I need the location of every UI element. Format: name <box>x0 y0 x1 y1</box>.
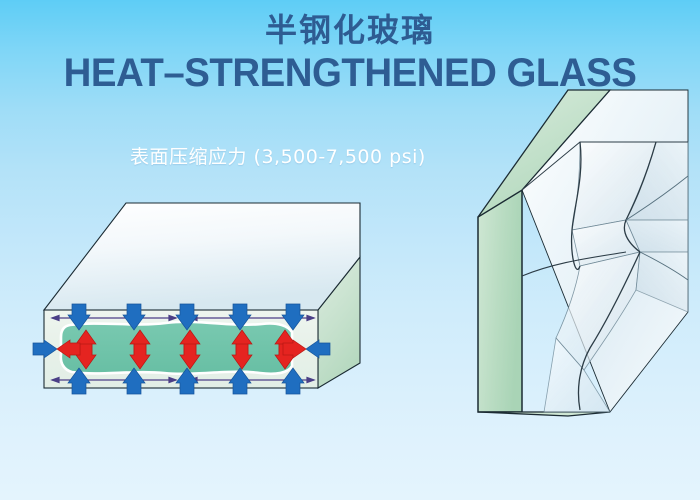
glass-bottom-bevel <box>478 412 610 416</box>
slab-top-face <box>44 203 360 310</box>
tension-core-region <box>61 322 292 374</box>
poster-canvas: 半钢化玻璃 HEAT–STRENGTHENED GLASS 表面压缩应力 (3,… <box>0 0 700 500</box>
page-title-chinese: 半钢化玻璃 <box>0 14 700 48</box>
fractured-glass-block <box>460 80 700 450</box>
glass-left-edge <box>478 190 522 412</box>
stress-diagram-slab: 在张力下的玻璃中心部分 应力平衡 <box>30 185 360 415</box>
surface-compression-subtitle: 表面压缩应力 (3,500-7,500 psi) <box>130 142 426 169</box>
